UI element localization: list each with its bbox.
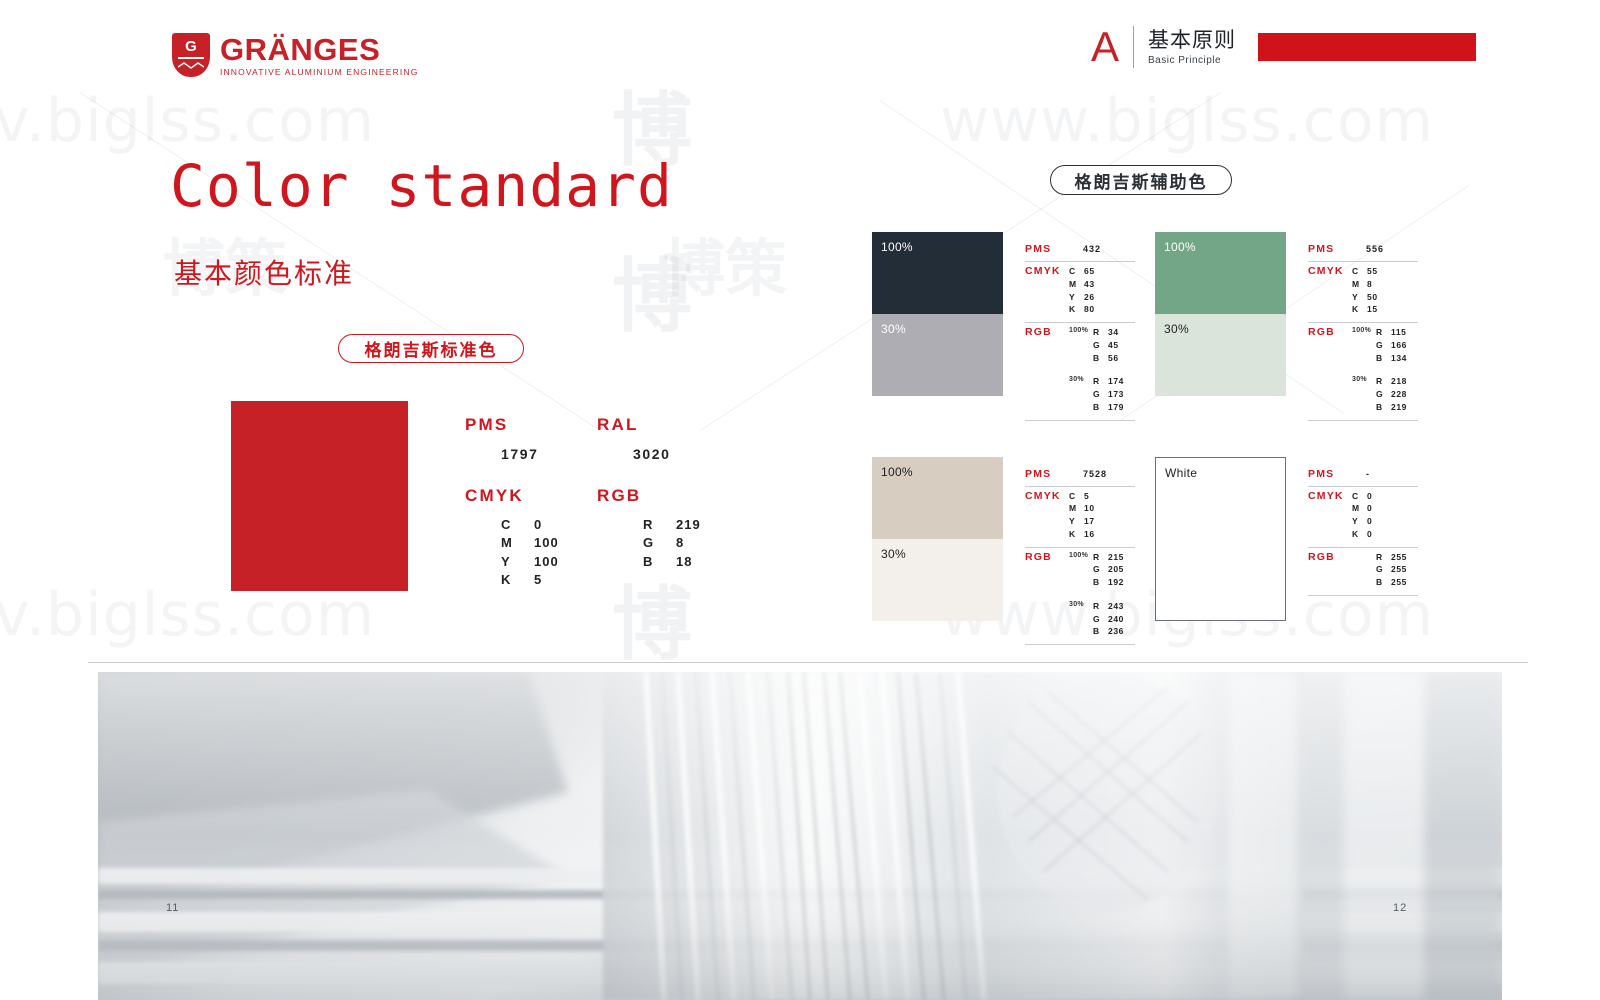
cmyk-channel: C: [1352, 265, 1367, 278]
rgb-channel: R: [1376, 551, 1391, 564]
rgb-value: 219: [676, 516, 701, 534]
spec-line: Y50: [1352, 291, 1393, 304]
cmyk-label: CMYK: [1025, 265, 1069, 316]
section-letter: A: [1091, 26, 1119, 68]
rgb-value: 56: [1108, 352, 1134, 365]
cmyk-channel: C: [1069, 490, 1084, 503]
spec-line: K15: [1352, 303, 1393, 316]
spec-line: B192: [1093, 576, 1134, 589]
swatch-spec: PMS432CMYKC65M43Y26K80RGB100%R34G45B5630…: [1025, 232, 1135, 421]
cmyk-label: CMYK: [1025, 490, 1069, 541]
spec-line: R243: [1093, 600, 1134, 613]
cmyk-channel: Y: [1069, 291, 1084, 304]
cmyk-channel: C: [1352, 490, 1367, 503]
rgb-value: 179: [1108, 401, 1134, 414]
rgb-channel: R: [1376, 326, 1391, 339]
spec-line: M43: [1069, 278, 1110, 291]
color-swatch: 100%30%: [1155, 232, 1286, 396]
page-number-left: 11: [166, 902, 179, 914]
cmyk-channel: K: [501, 571, 534, 589]
spec-line: M10: [1069, 502, 1110, 515]
cmyk-values: C55M8Y50K15: [1352, 265, 1393, 316]
primary-pms-label: PMS: [465, 415, 597, 435]
rgb-block: 100%R34G45B56: [1069, 326, 1135, 364]
rgb-value: 255: [1391, 563, 1417, 576]
swatch-tint-label: 30%: [1164, 322, 1189, 336]
shield-letter: G: [172, 38, 210, 55]
rgb-channel: B: [1093, 401, 1108, 414]
spec-line: R218: [1376, 375, 1417, 388]
rgb-value: 219: [1391, 401, 1417, 414]
rgb-value: 115: [1391, 326, 1417, 339]
rgb-values: R215G205B192: [1093, 551, 1134, 589]
page-subtitle: 基本颜色标准: [174, 252, 354, 292]
palette-swatch-dark-slate: 100%30%PMS432CMYKC65M43Y26K80RGB100%R34G…: [872, 232, 1135, 421]
cmyk-channel: M: [501, 534, 534, 552]
rgb-channel: G: [1376, 339, 1391, 352]
swatch-spec: PMS-CMYKC0M0Y0K0RGBR255G255B255: [1308, 457, 1418, 646]
cmyk-values: C0M0Y0K0: [1352, 490, 1393, 541]
rgb-value: 243: [1108, 600, 1134, 613]
spec-line: B236: [1093, 625, 1134, 638]
spec-rgb-row: RGB100%R115G166B13430%R218G228B219: [1308, 323, 1418, 421]
section-title-en: Basic Principle: [1148, 55, 1236, 66]
cmyk-value: 0: [1367, 528, 1393, 541]
palette-swatch-green: 100%30%PMS556CMYKC55M8Y50K15RGB100%R115G…: [1155, 232, 1418, 421]
palette-row: 100%30%PMS432CMYKC65M43Y26K80RGB100%R34G…: [872, 232, 1418, 421]
rgb-value: 173: [1108, 388, 1134, 401]
rgb-value: 45: [1108, 339, 1134, 352]
color-swatch: 100%30%: [872, 457, 1003, 621]
cmyk-value: 50: [1367, 291, 1393, 304]
primary-rgb-group: RGB R219G8B18: [597, 486, 729, 590]
rgb-channel: R: [1093, 326, 1108, 339]
rgb-channel: B: [1093, 625, 1108, 638]
rgb-percent-label: 100%: [1069, 551, 1093, 589]
rgb-value: 215: [1108, 551, 1134, 564]
cmyk-channel: Y: [1352, 515, 1367, 528]
rgb-block: 30%R243G240B236: [1069, 600, 1135, 638]
rgb-value: 255: [1391, 576, 1417, 589]
rgb-channel: R: [1093, 375, 1108, 388]
rgb-percent-label: 100%: [1352, 326, 1376, 364]
palette-row: 100%30%PMS7528CMYKC5M10Y17K16RGB100%R215…: [872, 457, 1418, 646]
pms-label: PMS: [1308, 243, 1352, 255]
rgb-channel: R: [1093, 600, 1108, 613]
spec-cmyk-row: CMYKC55M8Y50K15: [1308, 262, 1418, 323]
primary-rgb-label: RGB: [597, 486, 729, 506]
cmyk-label: CMYK: [1308, 265, 1352, 316]
rgb-channel: G: [643, 534, 676, 552]
cmyk-values: C5M10Y17K16: [1069, 490, 1110, 541]
primary-ral-group: RAL 3020: [597, 415, 729, 462]
section-title-cn: 基本原则: [1148, 28, 1236, 52]
rgb-label: RGB: [1025, 551, 1069, 639]
wave-icon: [178, 62, 204, 70]
cmyk-channel: K: [1069, 303, 1084, 316]
spec-line: Y26: [1069, 291, 1110, 304]
rgb-values: R115G166B134: [1376, 326, 1417, 364]
swatch-tint-label: 30%: [881, 547, 906, 561]
primary-ral-label: RAL: [597, 415, 729, 435]
spec-line: B179: [1093, 401, 1134, 414]
spec-line: B134: [1376, 352, 1417, 365]
page-title: Color standard: [170, 157, 673, 215]
primary-cmyk-values: C0M100Y100K5: [501, 516, 597, 590]
swatch-tint: 30%: [872, 314, 1003, 396]
cmyk-channel: K: [1352, 528, 1367, 541]
primary-pms-value: 1797: [501, 446, 597, 462]
cmyk-value: 80: [1084, 303, 1110, 316]
rgb-percent-label: 30%: [1069, 375, 1093, 413]
rgb-percent-label: 30%: [1352, 375, 1376, 413]
spec-line: B255: [1376, 576, 1417, 589]
swatch-full-label: White: [1165, 466, 1197, 480]
rgb-value: 34: [1108, 326, 1134, 339]
rgb-value: 174: [1108, 375, 1134, 388]
rgb-value: 240: [1108, 613, 1134, 626]
spec-line: G255: [1376, 563, 1417, 576]
cmyk-channel: K: [1069, 528, 1084, 541]
rgb-channel: R: [643, 516, 676, 534]
spec-rgb-row: RGB100%R34G45B5630%R174G173B179: [1025, 323, 1135, 421]
brand-logo[interactable]: G GRÄNGES INNOVATIVE ALUMINIUM ENGINEERI…: [172, 33, 418, 77]
cmyk-channel: Y: [1352, 291, 1367, 304]
cmyk-channel: M: [1069, 278, 1084, 291]
rgb-value: 228: [1391, 388, 1417, 401]
header-divider: [1133, 26, 1134, 68]
spec-cmyk-row: CMYKC5M10Y17K16: [1025, 487, 1135, 548]
section-divider: [88, 662, 1528, 663]
rgb-label: RGB: [1308, 326, 1352, 414]
spec-pms-row: PMS-: [1308, 465, 1418, 487]
swatch-full-label: 100%: [881, 240, 913, 254]
swatch-tint: 30%: [872, 539, 1003, 621]
spec-line: K5: [501, 571, 597, 589]
cmyk-value: 15: [1367, 303, 1393, 316]
rgb-values: R34G45B56: [1093, 326, 1134, 364]
swatch-full: White: [1156, 458, 1285, 539]
rgb-block: 30%R218G228B219: [1352, 375, 1418, 413]
rgb-percent-label: [1352, 551, 1376, 589]
spec-pms-row: PMS7528: [1025, 465, 1135, 487]
spec-line: K16: [1069, 528, 1110, 541]
rgb-channel: G: [1376, 388, 1391, 401]
cmyk-value: 100: [534, 534, 559, 552]
primary-pms-group: PMS 1797: [465, 415, 597, 462]
rgb-channel: B: [1093, 352, 1108, 365]
shield-icon: G: [172, 33, 210, 77]
primary-palette-label: 格朗吉斯标准色: [338, 334, 524, 363]
spec-line: K80: [1069, 303, 1110, 316]
rgb-channel: R: [1376, 375, 1391, 388]
rgb-channel: G: [1093, 388, 1108, 401]
spec-line: Y17: [1069, 515, 1110, 528]
pms-label: PMS: [1025, 243, 1069, 255]
spec-line: G45: [1093, 339, 1134, 352]
cmyk-channel: M: [1069, 502, 1084, 515]
spec-line: G173: [1093, 388, 1134, 401]
cmyk-value: 0: [534, 516, 542, 534]
swatch-full-label: 100%: [1164, 240, 1196, 254]
spec-line: Y0: [1352, 515, 1393, 528]
rgb-block: 30%R174G173B179: [1069, 375, 1135, 413]
rgb-channel: B: [643, 553, 676, 571]
pms-value: 432: [1083, 243, 1101, 255]
swatch-spec: PMS556CMYKC55M8Y50K15RGB100%R115G166B134…: [1308, 232, 1418, 421]
spec-line: M0: [1352, 502, 1393, 515]
swatch-full: 100%: [872, 232, 1003, 314]
pms-value: 7528: [1083, 468, 1107, 480]
rgb-values: R243G240B236: [1093, 600, 1134, 638]
rgb-value: 8: [676, 534, 684, 552]
primary-cmyk-group: CMYK C0M100Y100K5: [465, 486, 597, 590]
color-swatch: White: [1155, 457, 1286, 621]
spec-line: R34: [1093, 326, 1134, 339]
rgb-value: 192: [1108, 576, 1134, 589]
spec-pms-row: PMS432: [1025, 240, 1135, 262]
rgb-value: 236: [1108, 625, 1134, 638]
spec-line: G8: [643, 534, 729, 552]
spec-line: R255: [1376, 551, 1417, 564]
rgb-label: RGB: [1308, 551, 1352, 589]
spec-line: B219: [1376, 401, 1417, 414]
swatch-full-label: 100%: [881, 465, 913, 479]
cmyk-value: 16: [1084, 528, 1110, 541]
spec-cmyk-row: CMYKC0M0Y0K0: [1308, 487, 1418, 548]
spec-line: R215: [1093, 551, 1134, 564]
swatch-tint-label: 30%: [881, 322, 906, 336]
spec-line: G166: [1376, 339, 1417, 352]
shield-bar: [178, 57, 204, 59]
spec-line: M8: [1352, 278, 1393, 291]
rgb-block: 100%R215G205B192: [1069, 551, 1135, 589]
rgb-value: 218: [1391, 375, 1417, 388]
pms-label: PMS: [1025, 468, 1069, 480]
rgb-values: R218G228B219: [1376, 375, 1417, 413]
cmyk-value: 5: [1084, 490, 1110, 503]
cmyk-value: 8: [1367, 278, 1393, 291]
swatch-tint: 30%: [1155, 314, 1286, 396]
cmyk-channel: C: [1069, 265, 1084, 278]
spec-line: C5: [1069, 490, 1110, 503]
cmyk-values: C65M43Y26K80: [1069, 265, 1110, 316]
rgb-value: 255: [1391, 551, 1417, 564]
pms-value: -: [1366, 468, 1370, 480]
cmyk-value: 0: [1367, 515, 1393, 528]
primary-color-spec: PMS 1797 RAL 3020 CMYK C0M100Y100K5 RGB …: [465, 415, 729, 590]
rgb-value: 166: [1391, 339, 1417, 352]
cmyk-value: 5: [534, 571, 542, 589]
rgb-value: 134: [1391, 352, 1417, 365]
secondary-palette-label: 格朗吉斯辅助色: [1050, 165, 1232, 195]
spec-cmyk-row: CMYKC65M43Y26K80: [1025, 262, 1135, 323]
primary-ral-value: 3020: [633, 446, 729, 462]
rgb-value: 18: [676, 553, 692, 571]
spec-line: B18: [643, 553, 729, 571]
cmyk-value: 0: [1367, 490, 1393, 503]
spec-line: C55: [1352, 265, 1393, 278]
rgb-channel: B: [1376, 576, 1391, 589]
brand-name: GRÄNGES: [220, 34, 418, 65]
spec-line: C0: [501, 516, 597, 534]
cmyk-value: 17: [1084, 515, 1110, 528]
cmyk-channel: M: [1352, 278, 1367, 291]
aluminium-coil-image: [98, 672, 1502, 1000]
palette-swatch-white: WhitePMS-CMYKC0M0Y0K0RGBR255G255B255: [1155, 457, 1418, 646]
cmyk-value: 55: [1367, 265, 1393, 278]
spec-line: Y100: [501, 553, 597, 571]
cmyk-channel: Y: [501, 553, 534, 571]
rgb-value: 205: [1108, 563, 1134, 576]
spec-line: R174: [1093, 375, 1134, 388]
pms-label: PMS: [1308, 468, 1352, 480]
cmyk-channel: M: [1352, 502, 1367, 515]
rgb-channel: B: [1376, 352, 1391, 365]
page-number-right: 12: [1393, 902, 1407, 914]
spec-pms-row: PMS556: [1308, 240, 1418, 262]
rgb-channel: R: [1093, 551, 1108, 564]
rgb-percent-label: 100%: [1069, 326, 1093, 364]
page-header: G GRÄNGES INNOVATIVE ALUMINIUM ENGINEERI…: [0, 0, 1600, 100]
product-photo: [98, 672, 1502, 1000]
spec-line: M100: [501, 534, 597, 552]
pms-value: 556: [1366, 243, 1384, 255]
rgb-channel: G: [1093, 339, 1108, 352]
secondary-palette-grid: 100%30%PMS432CMYKC65M43Y26K80RGB100%R34G…: [872, 232, 1418, 645]
rgb-block: R255G255B255: [1352, 551, 1418, 589]
spec-line: G228: [1376, 388, 1417, 401]
spec-rgb-row: RGBR255G255B255: [1308, 548, 1418, 596]
rgb-block: 100%R115G166B134: [1352, 326, 1418, 364]
cmyk-value: 100: [534, 553, 559, 571]
spec-line: C0: [1352, 490, 1393, 503]
cmyk-label: CMYK: [1308, 490, 1352, 541]
swatch-full: 100%: [1155, 232, 1286, 314]
rgb-channel: G: [1376, 563, 1391, 576]
cmyk-channel: K: [1352, 303, 1367, 316]
brand-tagline: INNOVATIVE ALUMINIUM ENGINEERING: [220, 68, 418, 77]
rgb-channel: B: [1376, 401, 1391, 414]
spec-line: G240: [1093, 613, 1134, 626]
rgb-values: R174G173B179: [1093, 375, 1134, 413]
primary-color-swatch: [231, 401, 408, 591]
spec-line: K0: [1352, 528, 1393, 541]
rgb-label: RGB: [1025, 326, 1069, 414]
spec-line: R115: [1376, 326, 1417, 339]
spec-line: R219: [643, 516, 729, 534]
section-indicator: A 基本原则 Basic Principle: [1091, 26, 1600, 68]
swatch-tint: [1156, 539, 1285, 620]
color-swatch: 100%30%: [872, 232, 1003, 396]
watermark-logo-icon: 博: [612, 232, 692, 348]
palette-swatch-beige: 100%30%PMS7528CMYKC5M10Y17K16RGB100%R215…: [872, 457, 1135, 646]
cmyk-value: 0: [1367, 502, 1393, 515]
rgb-channel: B: [1093, 576, 1108, 589]
primary-rgb-values: R219G8B18: [643, 516, 729, 571]
cmyk-value: 65: [1084, 265, 1110, 278]
header-accent-bar: [1258, 33, 1476, 61]
cmyk-channel: C: [501, 516, 534, 534]
cmyk-value: 43: [1084, 278, 1110, 291]
spec-line: C65: [1069, 265, 1110, 278]
rgb-values: R255G255B255: [1376, 551, 1417, 589]
cmyk-value: 26: [1084, 291, 1110, 304]
rgb-percent-label: 30%: [1069, 600, 1093, 638]
cmyk-channel: Y: [1069, 515, 1084, 528]
spec-line: B56: [1093, 352, 1134, 365]
spec-line: G205: [1093, 563, 1134, 576]
rgb-channel: G: [1093, 563, 1108, 576]
swatch-full: 100%: [872, 457, 1003, 539]
swatch-spec: PMS7528CMYKC5M10Y17K16RGB100%R215G205B19…: [1025, 457, 1135, 646]
cmyk-value: 10: [1084, 502, 1110, 515]
spec-rgb-row: RGB100%R215G205B19230%R243G240B236: [1025, 548, 1135, 646]
watermark-cjk: 博策: [660, 236, 790, 301]
primary-cmyk-label: CMYK: [465, 486, 597, 506]
rgb-channel: G: [1093, 613, 1108, 626]
